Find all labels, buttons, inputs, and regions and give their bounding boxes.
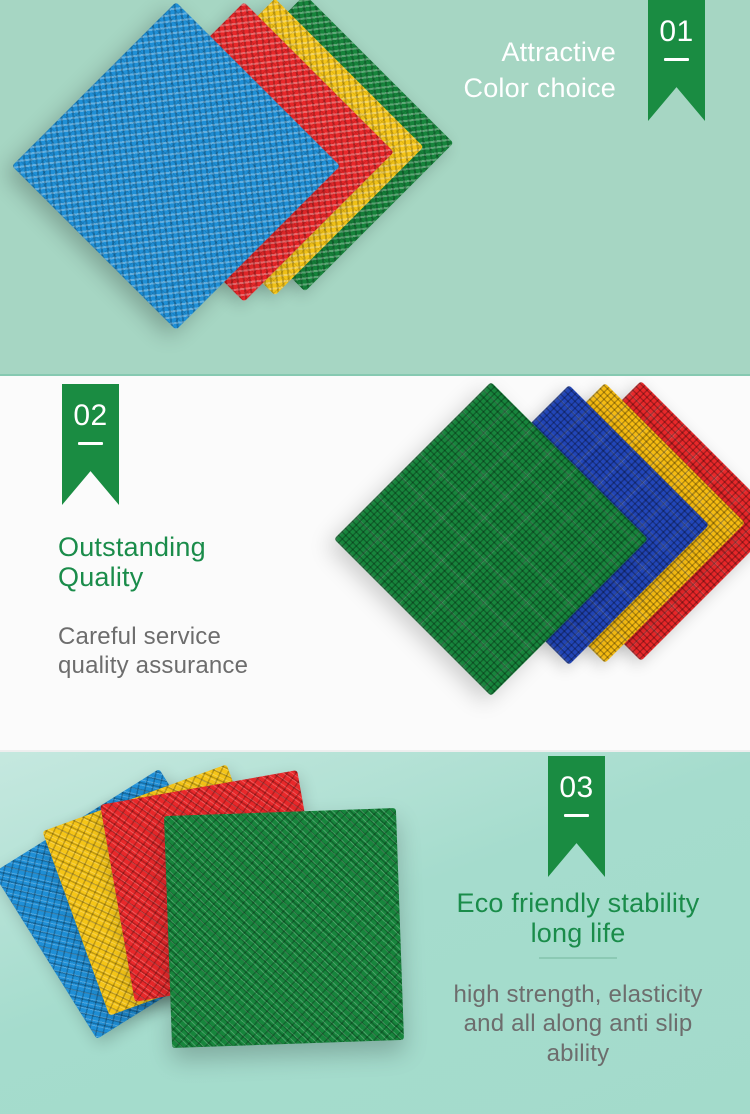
badge-ribbon-01: 01 [648,0,705,121]
panel-3-divider-rule [539,957,617,959]
panel-2-subtitle-block: Careful service quality assurance [58,622,398,681]
panel-1-title-line-2: Color choice [286,70,616,106]
panel-1-title-line-1: Attractive [286,34,616,70]
panel-3-subtitle-block: high strength, elasticity and all along … [418,980,738,1068]
fanned-tiles-photo [4,762,444,1112]
badge-underline [564,814,589,817]
panel-3-subtitle-line-1: high strength, elasticity [418,980,738,1009]
badge-ribbon-02: 02 [62,384,119,505]
panel-2-title-line-1: Outstanding [58,532,388,562]
feature-panel-2: 02 Outstanding Quality Careful service q… [0,376,750,752]
panel-3-title-line-2: long life [418,918,738,948]
badge-underline [664,58,689,61]
panel-3-subtitle-line-2: and all along anti slip [418,1009,738,1038]
panel-3-title-line-1: Eco friendly stability [418,888,738,918]
panel-3-title-block: Eco friendly stability long life [418,888,738,972]
panel-2-subtitle-line-2: quality assurance [58,651,398,680]
badge-underline [78,442,103,445]
product-tile-green [164,808,404,1048]
badge-number: 01 [659,17,693,47]
feature-panel-1: 01 Attractive Color choice [0,0,750,376]
badge-ribbon-03: 03 [548,756,605,877]
feature-panel-3: 03 Eco friendly stability long life high… [0,752,750,1114]
panel-1-title-block: Attractive Color choice [286,34,616,106]
infographic-page: 01 Attractive Color choice 02 Outstandin… [0,0,750,1114]
panel-2-subtitle-line-1: Careful service [58,622,398,651]
panel-3-subtitle-line-3: ability [418,1039,738,1068]
badge-number: 03 [559,773,593,803]
panel-2-title-block: Outstanding Quality [58,532,388,592]
concentric-square-tiles-photo [372,384,750,744]
panel-2-title-line-2: Quality [58,562,388,592]
badge-number: 02 [73,401,107,431]
